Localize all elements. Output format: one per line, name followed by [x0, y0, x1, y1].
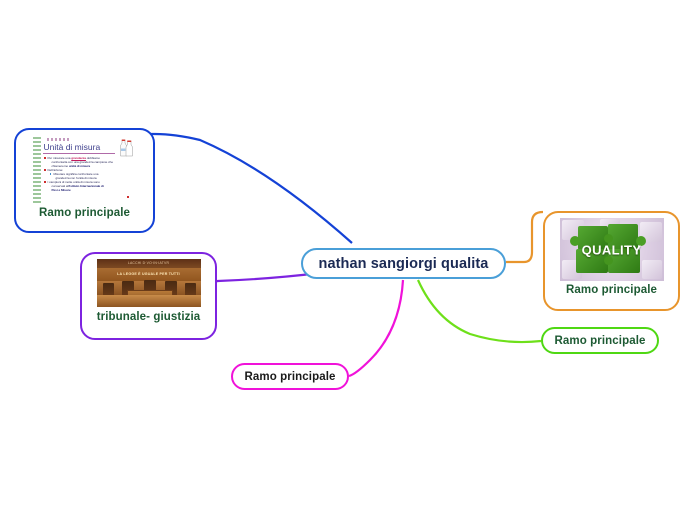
- puzzle-knob: [604, 256, 613, 265]
- branch-node-quality[interactable]: QUALITY Ramo principale: [543, 211, 680, 311]
- mindmap-canvas[interactable]: nathan sangiorgi qualita Unità di misura…: [0, 0, 696, 520]
- slide-title: Unità di misura: [44, 142, 101, 152]
- slide-stripe-decoration: [33, 137, 41, 204]
- puzzle-piece-white: [642, 260, 662, 279]
- center-node-label: nathan sangiorgi qualita: [319, 256, 489, 272]
- courtroom-photo: LACCHI D·VO·IN·IATVR LA LEGGE È UGUALE P…: [97, 259, 201, 307]
- branch-node-green-label: Ramo principale: [555, 335, 646, 347]
- slide-bullet-cont: Pesi e Misure: [44, 188, 135, 192]
- branch-node-tribunale-label: tribunale- giustizia: [97, 311, 201, 323]
- branch-node-green[interactable]: Ramo principale: [541, 327, 659, 354]
- slide-thumbnail-unita: Unità di misura Per misurare una grandez…: [33, 137, 137, 204]
- puzzle-photo: QUALITY: [560, 218, 664, 281]
- branch-node-tribunale[interactable]: LACCHI D·VO·IN·IATVR LA LEGGE È UGUALE P…: [80, 252, 217, 340]
- milk-bottles-icon: [114, 139, 134, 157]
- connector-green: [418, 280, 541, 342]
- branch-node-magenta-label: Ramo principale: [245, 371, 336, 383]
- slide-dot-decoration: [127, 196, 129, 198]
- branch-node-unita-label: Ramo principale: [39, 207, 130, 219]
- slide-title-rule: [43, 153, 115, 154]
- puzzle-overlay-text: QUALITY: [560, 242, 664, 257]
- slide-tick-decoration: [47, 138, 69, 141]
- connector-magenta: [349, 280, 403, 376]
- courtroom-inscription: LACCHI D·VO·IN·IATVR: [97, 259, 201, 268]
- courtroom-front-desk: [97, 295, 201, 307]
- branch-node-quality-label: Ramo principale: [566, 284, 657, 296]
- branch-node-magenta[interactable]: Ramo principale: [231, 363, 349, 390]
- connector-quality: [506, 212, 543, 262]
- center-node[interactable]: nathan sangiorgi qualita: [301, 248, 506, 279]
- slide-body: Per misurare una grandezza dobbiamo conf…: [44, 156, 135, 192]
- branch-node-unita[interactable]: Unità di misura Per misurare una grandez…: [14, 128, 155, 233]
